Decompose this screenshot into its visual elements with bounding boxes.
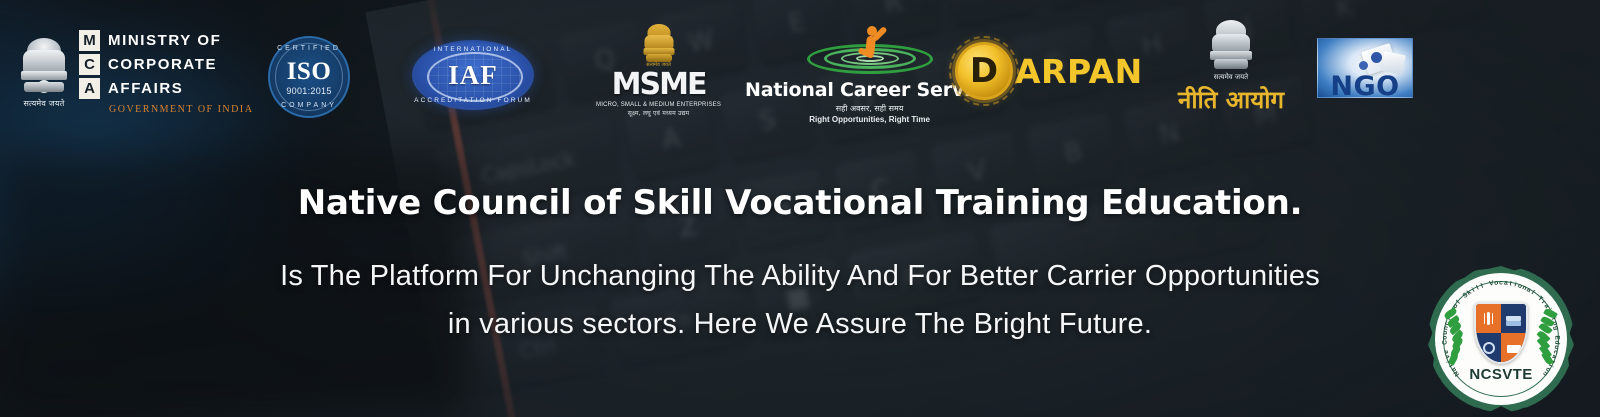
mca-word-affairs: AFFAIRS bbox=[108, 80, 183, 97]
msme-subtitle-en: MICRO, SMALL & MEDIUM ENTERPRISES bbox=[596, 102, 721, 108]
msme-subtitle-hi: सूक्ष्म, लघु एवं मध्यम उद्यम bbox=[628, 109, 690, 117]
ashoka-emblem-gold-icon: सत्यमेव जयते bbox=[642, 24, 676, 68]
ncsvte-seal: Native Council of Skill Vocational Train… bbox=[1428, 266, 1574, 412]
seal-name-text: NCSVTE bbox=[1428, 366, 1574, 383]
iaf-arc-top: INTERNATIONAL bbox=[414, 46, 532, 53]
ncs-tagline-en: Right Opportunities, Right Time bbox=[809, 115, 930, 124]
iaf-arc-bottom: ACCREDITATION FORUM bbox=[414, 97, 532, 104]
page-title: Native Council of Skill Vocational Train… bbox=[0, 183, 1600, 223]
shield-quadrant-caduceus bbox=[1476, 304, 1501, 333]
emblem-motto: सत्यमेव जयते bbox=[23, 98, 64, 109]
emblem-motto: सत्यमेव जयते bbox=[1214, 73, 1248, 82]
iso-arc-bottom: COMPANY bbox=[270, 102, 348, 109]
ngo-main-text: NGO bbox=[1330, 73, 1399, 98]
mca-initial-a: A bbox=[79, 78, 100, 99]
logo-iso-certified: CERTIFIED ISO 9001:2015 COMPANY bbox=[268, 36, 350, 118]
logo-niti-aayog: सत्यमेव जयते नीति आयोग bbox=[1178, 20, 1284, 116]
shield-quadrant-books bbox=[1501, 304, 1526, 333]
subtitle-line-1: Is The Platform For Unchanging The Abili… bbox=[280, 260, 1320, 292]
mca-initial-c: C bbox=[79, 54, 100, 75]
career-service-ripple-icon bbox=[801, 26, 939, 78]
niti-main-text: नीति आयोग bbox=[1178, 83, 1284, 116]
mca-footer: GOVERNMENT OF INDIA bbox=[109, 104, 253, 115]
msme-main-text: MSME bbox=[612, 70, 706, 100]
logo-iaf: INTERNATIONAL IAF ACCREDITATION FORUM bbox=[412, 40, 534, 110]
mca-initial-m: M bbox=[79, 30, 100, 51]
logo-msme: सत्यमेव जयते MSME MICRO, SMALL & MEDIUM … bbox=[596, 24, 721, 117]
ashoka-emblem-icon: सत्यमेव जयते bbox=[1206, 20, 1256, 82]
hero-banner: Tab Q W E R T Y U I O P CapsLock A S D F… bbox=[0, 0, 1600, 417]
ngo-card-icon: NGO bbox=[1317, 38, 1413, 98]
iaf-main-text: IAF bbox=[448, 60, 498, 91]
iso-arc-top: CERTIFIED bbox=[270, 45, 348, 52]
logo-ngo-darpan: D ARPAN bbox=[955, 42, 1143, 100]
darpan-coin-icon: D bbox=[955, 42, 1013, 100]
person-figure-icon bbox=[854, 26, 886, 62]
laurel-left-icon bbox=[1442, 310, 1468, 366]
banner-subtitle: Is The Platform For Unchanging The Abili… bbox=[0, 252, 1600, 348]
mca-word-corporate: CORPORATE bbox=[108, 56, 217, 73]
darpan-coin-letter: D bbox=[970, 54, 998, 88]
darpan-main-text: ARPAN bbox=[1015, 52, 1143, 91]
iso-badge-icon: CERTIFIED ISO 9001:2015 COMPANY bbox=[268, 36, 350, 118]
certification-logo-strip: सत्यमेव जयते M MINISTRY OF C CORPORATE A… bbox=[0, 0, 1600, 140]
mca-word-ministry: MINISTRY OF bbox=[108, 32, 221, 49]
laurel-right-icon bbox=[1534, 310, 1560, 366]
ncs-tagline-hi: सही अवसर, सही समय bbox=[836, 103, 904, 114]
emblem-motto: सत्यमेव जयते bbox=[646, 62, 671, 68]
subtitle-line-2: in various sectors. Here We Assure The B… bbox=[0, 300, 1600, 348]
ashoka-emblem-icon: सत्यमेव जयते bbox=[18, 36, 70, 110]
iaf-badge-icon: INTERNATIONAL IAF ACCREDITATION FORUM bbox=[412, 40, 534, 110]
logo-ministry-of-corporate-affairs: सत्यमेव जयते M MINISTRY OF C CORPORATE A… bbox=[18, 30, 253, 115]
mca-wordmark: M MINISTRY OF C CORPORATE A AFFAIRS GOVE… bbox=[79, 30, 253, 115]
logo-ngo: NGO bbox=[1317, 38, 1413, 98]
